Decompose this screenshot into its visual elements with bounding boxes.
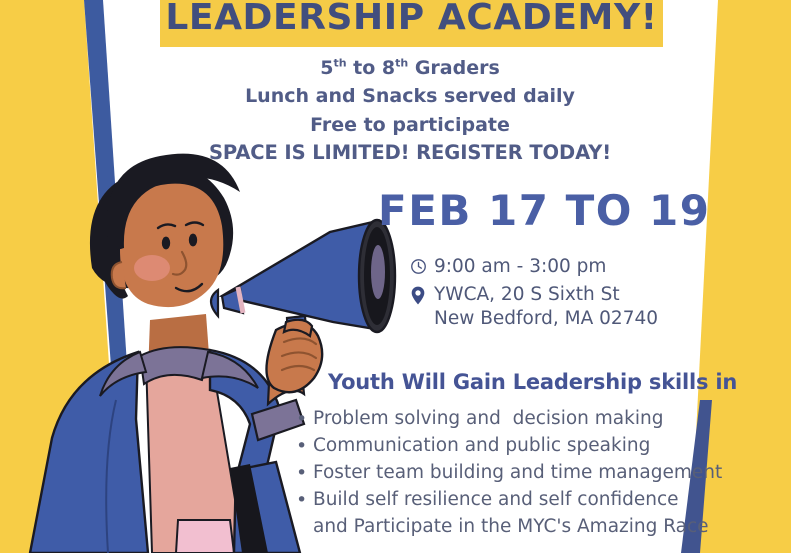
grades-mid: to 8: [347, 57, 396, 79]
list-item: • Communication and public speaking: [296, 433, 716, 460]
bullet-icon: •: [296, 406, 313, 433]
bullet-icon: •: [296, 487, 313, 514]
event-location-row: YWCA, 20 S Sixth St New Bedford, MA 0274…: [410, 283, 710, 332]
list-item-label: Communication and public speaking: [313, 433, 650, 460]
subheading-lunch: Lunch and Snacks served daily: [150, 84, 670, 108]
grades-sup-1: th: [333, 57, 346, 70]
event-details: 9:00 am - 3:00 pm YWCA, 20 S Sixth St Ne…: [410, 255, 710, 335]
grades-sup-2: th: [395, 57, 408, 70]
subheading-block: 5th to 8th Graders Lunch and Snacks serv…: [150, 56, 670, 170]
person-figure: [30, 154, 322, 553]
event-date: FEB 17 TO 19: [378, 186, 711, 235]
list-item: • Build self resilience and self confide…: [296, 487, 716, 514]
subheading-register: SPACE IS LIMITED! REGISTER TODAY!: [150, 141, 670, 166]
event-time: 9:00 am - 3:00 pm: [434, 255, 606, 279]
event-address-line1: YWCA, 20 S Sixth St: [434, 284, 620, 305]
skills-list: • Problem solving and decision making • …: [296, 406, 716, 541]
grades-suffix: Graders: [408, 57, 500, 79]
event-time-row: 9:00 am - 3:00 pm: [410, 255, 710, 280]
list-item-label: Foster team building and time management: [313, 460, 722, 487]
bullet-icon: •: [296, 433, 313, 460]
clock-icon: [410, 255, 434, 280]
skills-heading: Youth Will Gain Leadership skills in: [328, 370, 737, 394]
list-item-continuation: and Participate in the MYC's Amazing Rac…: [296, 514, 716, 541]
location-pin-icon: [410, 283, 434, 310]
event-address-line2: New Bedford, MA 02740: [434, 307, 658, 331]
list-item: • Foster team building and time manageme…: [296, 460, 716, 487]
poster-canvas: LEADERSHIP ACADEMY! 5th to 8th Graders L…: [0, 0, 791, 553]
banner-title: LEADERSHIP ACADEMY!: [165, 0, 657, 38]
list-item-label: Build self resilience and self confidenc…: [313, 487, 679, 514]
list-item-label: Problem solving and decision making: [313, 406, 663, 433]
title-banner: LEADERSHIP ACADEMY!: [160, 0, 663, 47]
bullet-icon: •: [296, 460, 313, 487]
subheading-grades: 5th to 8th Graders: [150, 56, 670, 80]
list-item: • Problem solving and decision making: [296, 406, 716, 433]
grades-prefix: 5: [320, 57, 333, 79]
event-address: YWCA, 20 S Sixth St New Bedford, MA 0274…: [434, 283, 658, 332]
subheading-free: Free to participate: [150, 113, 670, 137]
